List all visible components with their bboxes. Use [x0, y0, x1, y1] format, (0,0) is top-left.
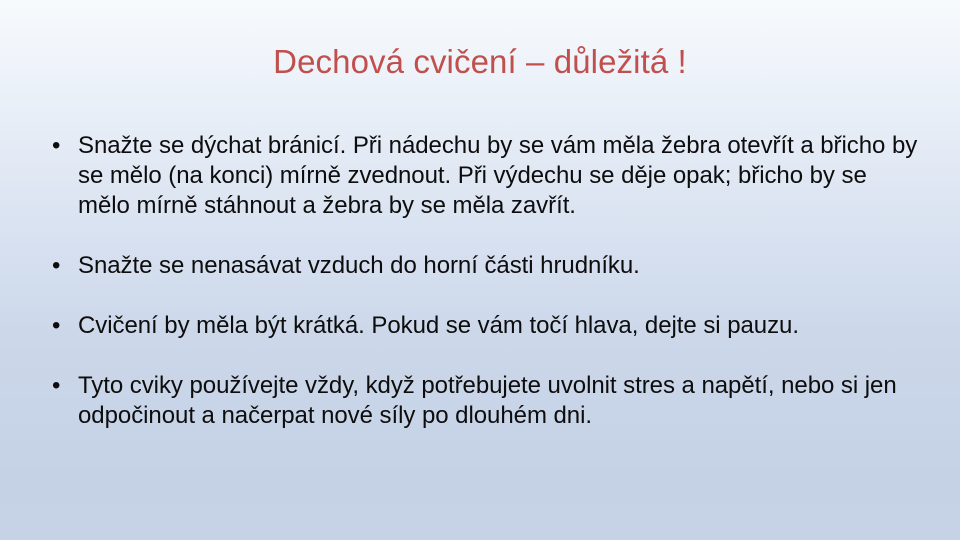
- list-item-text: Cvičení by měla být krátká. Pokud se vám…: [78, 311, 918, 341]
- list-item[interactable]: • Snažte se nenasávat vzduch do horní čá…: [46, 251, 918, 281]
- list-item-text: Tyto cviky používejte vždy, když potřebu…: [78, 371, 918, 431]
- bullet-point-icon: •: [52, 131, 70, 161]
- bullet-point-icon: •: [52, 311, 70, 341]
- list-item-text: Snažte se nenasávat vzduch do horní část…: [78, 251, 918, 281]
- list-item[interactable]: • Snažte se dýchat bránicí. Při nádechu …: [46, 131, 918, 221]
- list-item[interactable]: • Tyto cviky používejte vždy, když potře…: [46, 371, 918, 431]
- bullet-point-icon: •: [52, 251, 70, 281]
- bullet-point-icon: •: [52, 371, 70, 401]
- list-item-text: Snažte se dýchat bránicí. Při nádechu by…: [78, 131, 918, 221]
- presentation-slide: Dechová cvičení – důležitá ! • Snažte se…: [0, 0, 960, 540]
- body-placeholder[interactable]: • Snažte se dýchat bránicí. Při nádechu …: [46, 131, 918, 431]
- page-title: Dechová cvičení – důležitá !: [60, 42, 900, 82]
- list-item[interactable]: • Cvičení by měla být krátká. Pokud se v…: [46, 311, 918, 341]
- title-placeholder[interactable]: Dechová cvičení – důležitá !: [60, 42, 900, 82]
